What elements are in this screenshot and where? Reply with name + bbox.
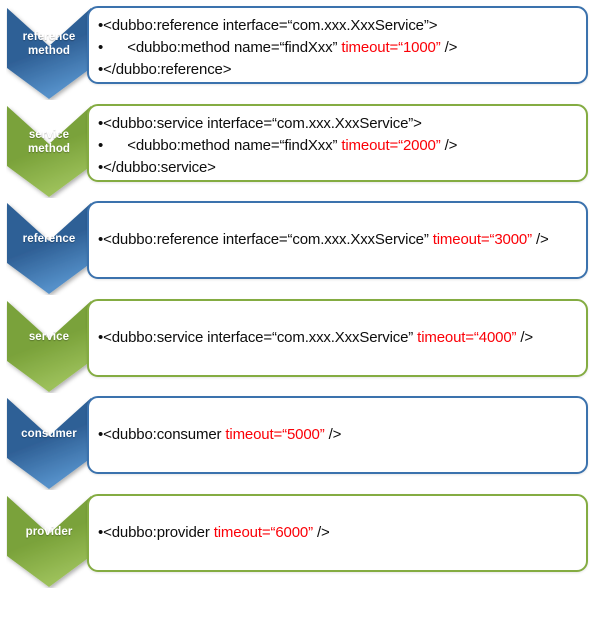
code-text: </dubbo:reference> xyxy=(103,61,231,78)
config-row-reference-method: referencemethod•<dubbo:reference interfa… xyxy=(0,2,600,102)
chevron-down-icon xyxy=(6,299,92,393)
code-text: <dubbo:reference interface=“com.xxx.XxxS… xyxy=(103,17,437,34)
chevron-tag-service[interactable]: service xyxy=(6,299,92,393)
code-callout-consumer[interactable]: •<dubbo:consumer timeout=“5000” /> xyxy=(87,396,588,474)
code-text: <dubbo:method name=“findXxx” xyxy=(103,39,341,56)
config-row-service: service•<dubbo:service interface=“com.xx… xyxy=(0,295,600,395)
code-text: <dubbo:service interface=“com.xxx.XxxSer… xyxy=(103,329,417,346)
code-line: •<dubbo:provider timeout=“6000” /> xyxy=(98,522,330,544)
code-line: •<dubbo:service interface=“com.xxx.XxxSe… xyxy=(98,113,578,135)
code-text: <dubbo:provider xyxy=(103,524,214,541)
chevron-down-icon xyxy=(6,396,92,490)
code-text: </dubbo:service> xyxy=(103,159,216,176)
code-snippet-service-method: •<dubbo:service interface=“com.xxx.XxxSe… xyxy=(98,113,578,179)
code-snippet-reference: •<dubbo:reference interface=“com.xxx.Xxx… xyxy=(98,203,578,277)
code-line: •</dubbo:service> xyxy=(98,157,578,179)
code-snippet-reference-method: •<dubbo:reference interface=“com.xxx.Xxx… xyxy=(98,15,578,81)
timeout-attribute: timeout=“2000” xyxy=(341,137,440,154)
code-text: <dubbo:consumer xyxy=(103,426,225,443)
code-callout-reference-method[interactable]: •<dubbo:reference interface=“com.xxx.Xxx… xyxy=(87,6,588,84)
code-text-suffix: /> xyxy=(325,426,342,443)
code-callout-provider[interactable]: •<dubbo:provider timeout=“6000” /> xyxy=(87,494,588,572)
code-line: •<dubbo:reference interface=“com.xxx.Xxx… xyxy=(98,15,578,37)
chevron-tag-provider[interactable]: provider xyxy=(6,494,92,588)
code-text-suffix: /> xyxy=(532,231,549,248)
chevron-down-icon xyxy=(6,6,92,100)
code-line: •</dubbo:reference> xyxy=(98,59,578,81)
config-row-consumer: consumer•<dubbo:consumer timeout=“5000” … xyxy=(0,392,600,492)
chevron-tag-reference-method[interactable]: referencemethod xyxy=(6,6,92,100)
code-line: • <dubbo:method name=“findXxx” timeout=“… xyxy=(98,37,578,59)
code-text-suffix: /> xyxy=(441,39,458,56)
code-callout-reference[interactable]: •<dubbo:reference interface=“com.xxx.Xxx… xyxy=(87,201,588,279)
config-row-service-method: servicemethod•<dubbo:service interface=“… xyxy=(0,100,600,200)
code-line: •<dubbo:reference interface=“com.xxx.Xxx… xyxy=(98,229,549,251)
code-text-suffix: /> xyxy=(516,329,533,346)
code-snippet-consumer: •<dubbo:consumer timeout=“5000” /> xyxy=(98,398,578,472)
chevron-down-icon xyxy=(6,201,92,295)
code-text: <dubbo:method name=“findXxx” xyxy=(103,137,341,154)
code-line: •<dubbo:service interface=“com.xxx.XxxSe… xyxy=(98,327,533,349)
timeout-attribute: timeout=“4000” xyxy=(417,329,516,346)
timeout-precedence-diagram: referencemethod•<dubbo:reference interfa… xyxy=(0,0,600,620)
chevron-tag-reference[interactable]: reference xyxy=(6,201,92,295)
timeout-attribute: timeout=“1000” xyxy=(341,39,440,56)
config-row-provider: provider•<dubbo:provider timeout=“6000” … xyxy=(0,490,600,590)
code-snippet-provider: •<dubbo:provider timeout=“6000” /> xyxy=(98,496,578,570)
code-callout-service[interactable]: •<dubbo:service interface=“com.xxx.XxxSe… xyxy=(87,299,588,377)
timeout-attribute: timeout=“5000” xyxy=(225,426,324,443)
timeout-attribute: timeout=“3000” xyxy=(433,231,532,248)
code-snippet-service: •<dubbo:service interface=“com.xxx.XxxSe… xyxy=(98,301,578,375)
code-text-suffix: /> xyxy=(313,524,330,541)
chevron-down-icon xyxy=(6,494,92,588)
chevron-down-icon xyxy=(6,104,92,198)
code-text: <dubbo:reference interface=“com.xxx.XxxS… xyxy=(103,231,433,248)
code-callout-service-method[interactable]: •<dubbo:service interface=“com.xxx.XxxSe… xyxy=(87,104,588,182)
code-text-suffix: /> xyxy=(441,137,458,154)
timeout-attribute: timeout=“6000” xyxy=(214,524,313,541)
code-line: • <dubbo:method name=“findXxx” timeout=“… xyxy=(98,135,578,157)
chevron-tag-service-method[interactable]: servicemethod xyxy=(6,104,92,198)
code-text: <dubbo:service interface=“com.xxx.XxxSer… xyxy=(103,115,422,132)
chevron-tag-consumer[interactable]: consumer xyxy=(6,396,92,490)
code-line: •<dubbo:consumer timeout=“5000” /> xyxy=(98,424,341,446)
config-row-reference: reference•<dubbo:reference interface=“co… xyxy=(0,197,600,297)
